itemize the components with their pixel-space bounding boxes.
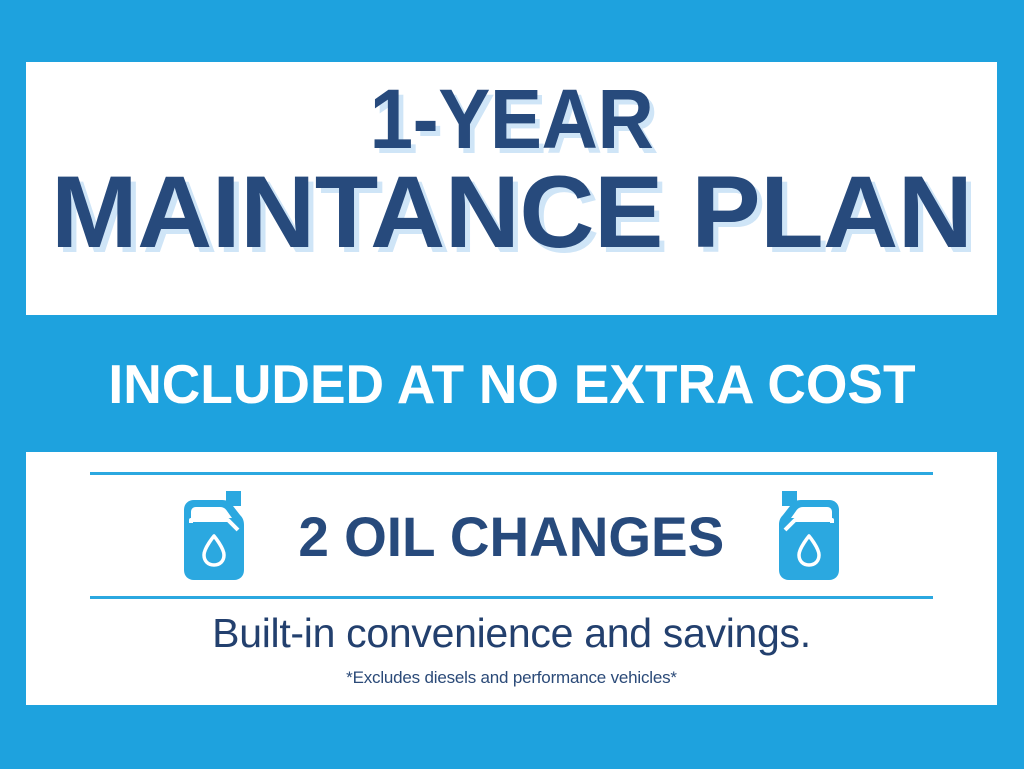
subtitle-text: INCLUDED AT NO EXTRA COST [15,352,1008,416]
headline-line-1: 1-YEAR [370,80,654,159]
tagline-text: Built-in convenience and savings. [26,610,997,657]
offer-row: 2 OIL CHANGES [26,484,997,588]
headline-line-2: MAINTANCE PLAN [51,165,972,261]
oil-jug-icon-left [178,490,250,582]
headline-card: 1-YEAR MAINTANCE PLAN [26,62,997,315]
divider-top [90,472,933,475]
offer-label: 2 OIL CHANGES [299,504,725,569]
promo-poster: 1-YEAR MAINTANCE PLAN INCLUDED AT NO EXT… [0,0,1024,769]
oil-jug-icon-right [773,490,845,582]
fineprint-text: *Excludes diesels and performance vehicl… [26,668,997,688]
divider-bottom [90,596,933,599]
offer-card: 2 OIL CHANGES Built-in convenience and s… [26,452,997,705]
